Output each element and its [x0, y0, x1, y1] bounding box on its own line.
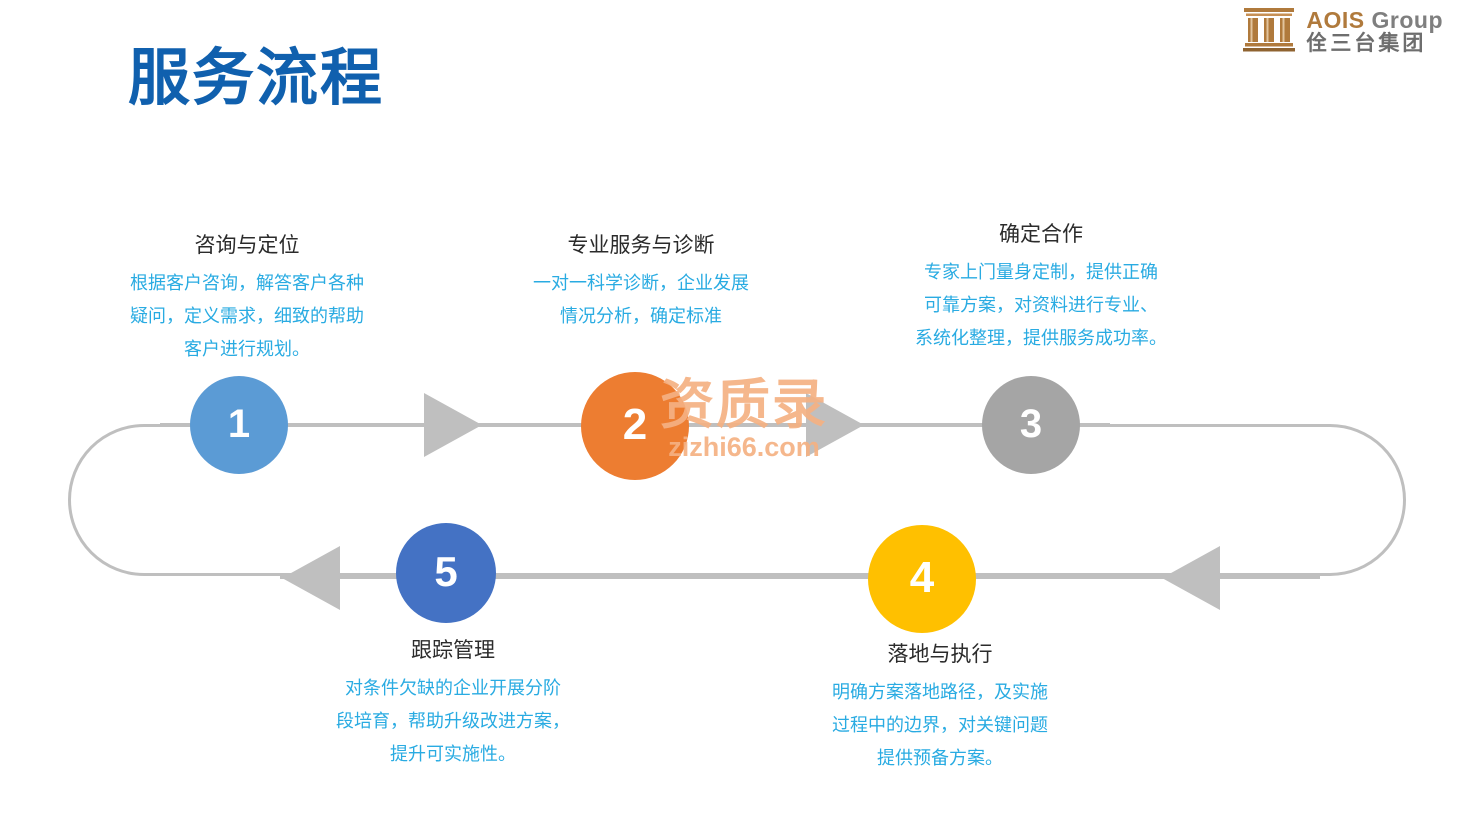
step-body-line: 专家上门量身定制，提供正确	[888, 256, 1194, 289]
step-heading-5: 跟踪管理	[306, 637, 600, 664]
step-body-line: 明确方案落地路径，及实施	[790, 676, 1090, 709]
step-node-2[interactable]: 2	[581, 372, 689, 480]
logo-text-cn: 佺三台集团	[1306, 33, 1443, 55]
step-body-1: 根据客户咨询，解答客户各种 疑问，定义需求，细致的帮助 客户进行规划。	[100, 267, 394, 365]
arrow-step4-to-step5-icon	[1162, 546, 1220, 610]
step-body-line: 客户进行规划。	[100, 333, 394, 366]
step-node-3[interactable]: 3	[982, 376, 1080, 474]
step-body-2: 一对一科学诊断，企业发展 情况分析，确定标准	[494, 267, 788, 333]
step-heading-4: 落地与执行	[790, 641, 1090, 668]
step-body-line: 系统化整理，提供服务成功率。	[888, 322, 1194, 355]
step-body-4: 明确方案落地路径，及实施 过程中的边界，对关键问题 提供预备方案。	[790, 676, 1090, 774]
step-body-5: 对条件欠缺的企业开展分阶 段培育，帮助升级改进方案， 提升可实施性。	[306, 672, 600, 770]
step-text-block-3: 确定合作 专家上门量身定制，提供正确 可靠方案，对资料进行专业、 系统化整理，提…	[888, 221, 1194, 355]
step-body-line: 情况分析，确定标准	[494, 300, 788, 333]
step-node-4[interactable]: 4	[868, 525, 976, 633]
step-text-block-4: 落地与执行 明确方案落地路径，及实施 过程中的边界，对关键问题 提供预备方案。	[790, 641, 1090, 775]
step-node-5[interactable]: 5	[396, 523, 496, 623]
step-text-block-1: 咨询与定位 根据客户咨询，解答客户各种 疑问，定义需求，细致的帮助 客户进行规划…	[100, 232, 394, 366]
step-number-3: 3	[1020, 404, 1042, 444]
step-node-1[interactable]: 1	[190, 376, 288, 474]
step-body-line: 段培育，帮助升级改进方案，	[306, 705, 600, 738]
logo-wordmark: AOIS Group 佺三台集团	[1306, 8, 1443, 54]
step-number-5: 5	[434, 551, 457, 593]
logo-text-en: AOIS Group	[1306, 8, 1443, 32]
logo-text-en-secondary: Group	[1372, 7, 1444, 33]
step-body-line: 可靠方案，对资料进行专业、	[888, 289, 1194, 322]
step-text-block-2: 专业服务与诊断 一对一科学诊断，企业发展 情况分析，确定标准	[494, 232, 788, 333]
step-body-3: 专家上门量身定制，提供正确 可靠方案，对资料进行专业、 系统化整理，提供服务成功…	[888, 256, 1194, 354]
step-heading-3: 确定合作	[888, 221, 1194, 248]
step-body-line: 一对一科学诊断，企业发展	[494, 267, 788, 300]
step-body-line: 根据客户咨询，解答客户各种	[100, 267, 394, 300]
step-heading-2: 专业服务与诊断	[494, 232, 788, 259]
step-body-line: 提升可实施性。	[306, 738, 600, 771]
logo-text-en-primary: AOIS	[1306, 7, 1364, 33]
classical-columns-icon	[1242, 6, 1296, 57]
step-body-line: 疑问，定义需求，细致的帮助	[100, 300, 394, 333]
arrow-step1-to-step2-icon	[424, 393, 482, 457]
arrow-step5-to-loop-icon	[282, 546, 340, 610]
step-heading-1: 咨询与定位	[100, 232, 394, 259]
step-body-line: 提供预备方案。	[790, 742, 1090, 775]
brand-logo: AOIS Group 佺三台集团	[1242, 6, 1443, 57]
arrow-step2-to-step3-icon	[806, 393, 864, 457]
slide-canvas: AOIS Group 佺三台集团 服务流程 1 2 3 4 5 咨询与定位 根据…	[0, 0, 1465, 824]
page-title: 服务流程	[128, 48, 384, 110]
step-number-1: 1	[228, 404, 250, 444]
step-number-4: 4	[910, 556, 934, 600]
step-text-block-5: 跟踪管理 对条件欠缺的企业开展分阶 段培育，帮助升级改进方案， 提升可实施性。	[306, 637, 600, 771]
step-body-line: 过程中的边界，对关键问题	[790, 709, 1090, 742]
step-body-line: 对条件欠缺的企业开展分阶	[306, 672, 600, 705]
step-number-2: 2	[623, 403, 647, 447]
